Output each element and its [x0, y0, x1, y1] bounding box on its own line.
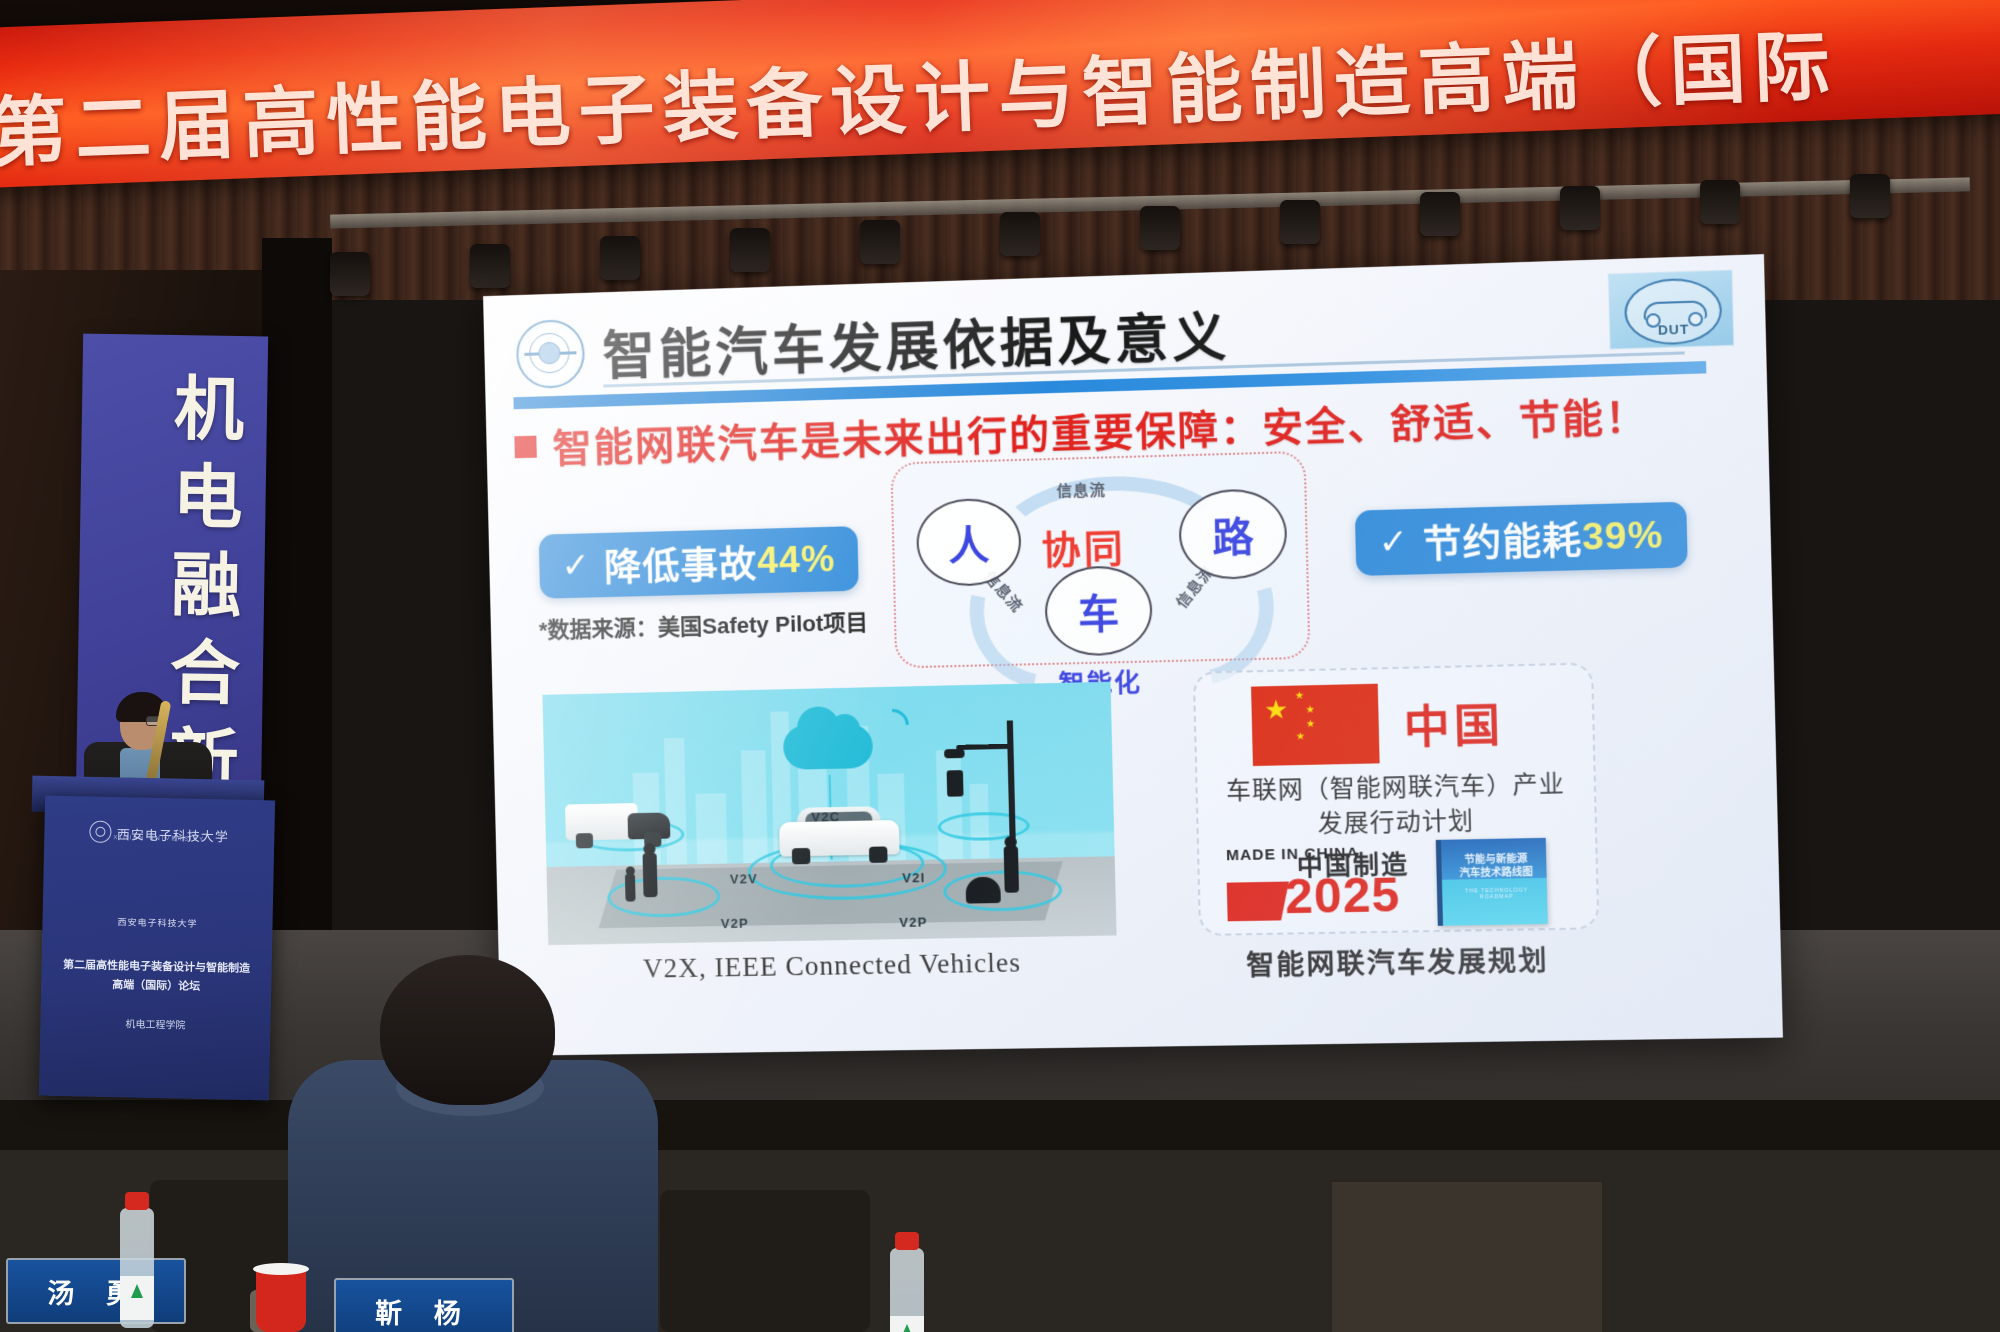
bottle-label	[120, 1276, 154, 1320]
dut-lab-logo: DUT	[1608, 270, 1734, 350]
name-placard-right-text: 靳 杨	[375, 1292, 473, 1331]
book-subtitle: THE TECHNOLOGY ROADMAP	[1453, 887, 1541, 901]
policy-title: 车联网（智能网联汽车）产业 发展行动计划	[1197, 767, 1595, 844]
stage-lamp	[330, 252, 370, 296]
made-in-china-2025-logo: MADE IN CHINA 中国制造 2025	[1226, 844, 1415, 923]
pedestrian-adult	[643, 853, 658, 897]
stat-pill-energy-saving: ✓ 节约能耗 39%	[1355, 502, 1688, 576]
signal-ripple	[937, 811, 1030, 841]
diagram-center-label: 协同	[1041, 517, 1127, 575]
stat-pill-value: 39%	[1582, 514, 1664, 559]
stage-lamp	[1000, 212, 1040, 256]
auditorium-chair	[660, 1190, 870, 1332]
information-flow-label: 信息流	[1056, 479, 1106, 502]
flag-star-small: ★	[1305, 706, 1315, 716]
v2x-label-v2c: V2C	[811, 809, 840, 825]
car-wheel	[792, 848, 811, 864]
stage-lamp	[1850, 174, 1890, 218]
stat-pill-label: 节约能耗	[1422, 510, 1583, 569]
podium-middle-logos: 西安电子科技大学	[42, 914, 272, 932]
stage-lamp	[1140, 206, 1180, 250]
v2x-illustration: V2C V2V V2I V2P V2P	[542, 682, 1116, 945]
conference-photo-scene: 第二届高性能电子装备设计与智能制造高端（国际 机电融合新 西安电子科技大学 XI…	[0, 0, 2000, 1332]
traffic-light-icon	[947, 770, 964, 797]
auditorium-panel	[1330, 1180, 1604, 1332]
bottle-cap	[895, 1232, 919, 1250]
china-panel-caption: 智能网联汽车发展规划	[1199, 938, 1596, 984]
flag-star-small: ★	[1306, 720, 1316, 730]
cloud-icon	[783, 724, 873, 770]
car-wheel	[869, 846, 888, 862]
flag-star-small: ★	[1296, 732, 1306, 742]
flag-star-large: ★	[1264, 696, 1289, 723]
pedestrian-with-stroller	[1004, 846, 1019, 893]
stage-lamp	[1280, 200, 1320, 244]
stat-pill-label: 降低事故	[603, 534, 757, 592]
podium: 西安电子科技大学 XIDIAN UNIVERSITY 西安电子科技大学 第二届高…	[39, 796, 275, 1101]
made-in-china-year: 2025	[1284, 867, 1401, 925]
bullet-square-icon	[514, 436, 537, 459]
stage-lamp	[1420, 192, 1460, 236]
check-icon: ✓	[1378, 521, 1409, 563]
paper-cup	[256, 1268, 306, 1332]
dut-acronym: DUT	[1627, 320, 1720, 338]
v2x-label-v2v: V2V	[730, 871, 758, 887]
book-title: 节能与新能源 汽车技术路线图	[1452, 852, 1541, 880]
street-light-head	[944, 749, 965, 759]
country-label-china: 中国	[1403, 689, 1505, 757]
collaboration-diagram: 信息流 信息流 信息流 人 路 车 协同	[890, 451, 1310, 669]
name-placard-right: 靳 杨	[334, 1278, 514, 1332]
china-policy-panel: ★ ★ ★ ★ ★ 中国 车联网（智能网联汽车）产业 发展行动计划 MADE I…	[1193, 662, 1600, 936]
v2x-label-v2p-left: V2P	[721, 916, 749, 932]
stage-lamp	[470, 244, 510, 288]
slide-surface: 智能汽车发展依据及意义 DUT 智能网联汽车是未来出行的重要保障：安全、舒适、节…	[483, 254, 1783, 1056]
stat-pill-value: 44%	[757, 538, 836, 582]
stage-lamp	[1700, 180, 1740, 224]
diagram-node-road: 路	[1178, 488, 1288, 580]
wifi-signal-icon	[869, 702, 915, 748]
roadmap-book-cover: 节能与新能源 汽车技术路线图 THE TECHNOLOGY ROADMAP	[1436, 838, 1548, 926]
street-light-arm	[956, 744, 1013, 750]
bottle-cap	[125, 1192, 149, 1210]
city-building	[936, 750, 963, 860]
water-bottle	[120, 1208, 154, 1328]
stage-lamp	[1560, 186, 1600, 230]
delivery-van-icon	[565, 800, 671, 848]
dut-oval-ring-icon: DUT	[1624, 277, 1723, 346]
data-source-note: *数据来源：美国Safety Pilot项目	[539, 605, 869, 645]
v2x-label-v2i: V2I	[902, 870, 925, 886]
made-in-china-flag-icon	[1227, 882, 1290, 922]
bottle-label	[890, 1316, 924, 1332]
book-title-line2: 汽车技术路线图	[1452, 866, 1540, 881]
water-bottle	[890, 1248, 924, 1332]
stage-lamp	[730, 228, 770, 272]
china-flag-icon: ★ ★ ★ ★ ★	[1251, 684, 1380, 766]
city-building	[696, 793, 728, 864]
stage-lamp	[600, 236, 640, 280]
xidian-university-emblem-icon	[516, 319, 586, 389]
v2x-caption: V2X, IEEE Connected Vehicles	[549, 946, 1118, 987]
projection-screen: 智能汽车发展依据及意义 DUT 智能网联汽车是未来出行的重要保障：安全、舒适、节…	[483, 254, 1783, 1056]
stage-lamp	[860, 220, 900, 264]
podium-conference-text: 第二届高性能电子装备设计与智能制造 高端（国际）论坛	[41, 956, 272, 999]
cup-rim	[253, 1263, 309, 1275]
emblem-bar	[524, 351, 576, 356]
v2x-label-v2p-right: V2P	[899, 914, 927, 930]
flag-star-small: ★	[1295, 692, 1305, 702]
van-wheel	[576, 833, 593, 848]
city-building	[741, 750, 768, 863]
check-icon: ✓	[561, 545, 591, 586]
pedestrian-child	[625, 873, 636, 901]
audience-member-head	[380, 955, 555, 1105]
name-placard-left: 汤 勇	[6, 1258, 186, 1324]
stat-pill-accident-reduction: ✓ 降低事故 44%	[539, 526, 859, 599]
podium-department: 机电工程学院	[40, 1014, 270, 1034]
podium-logo-text: 西安电子科技大学	[42, 914, 272, 932]
stroller-icon	[965, 877, 1000, 904]
